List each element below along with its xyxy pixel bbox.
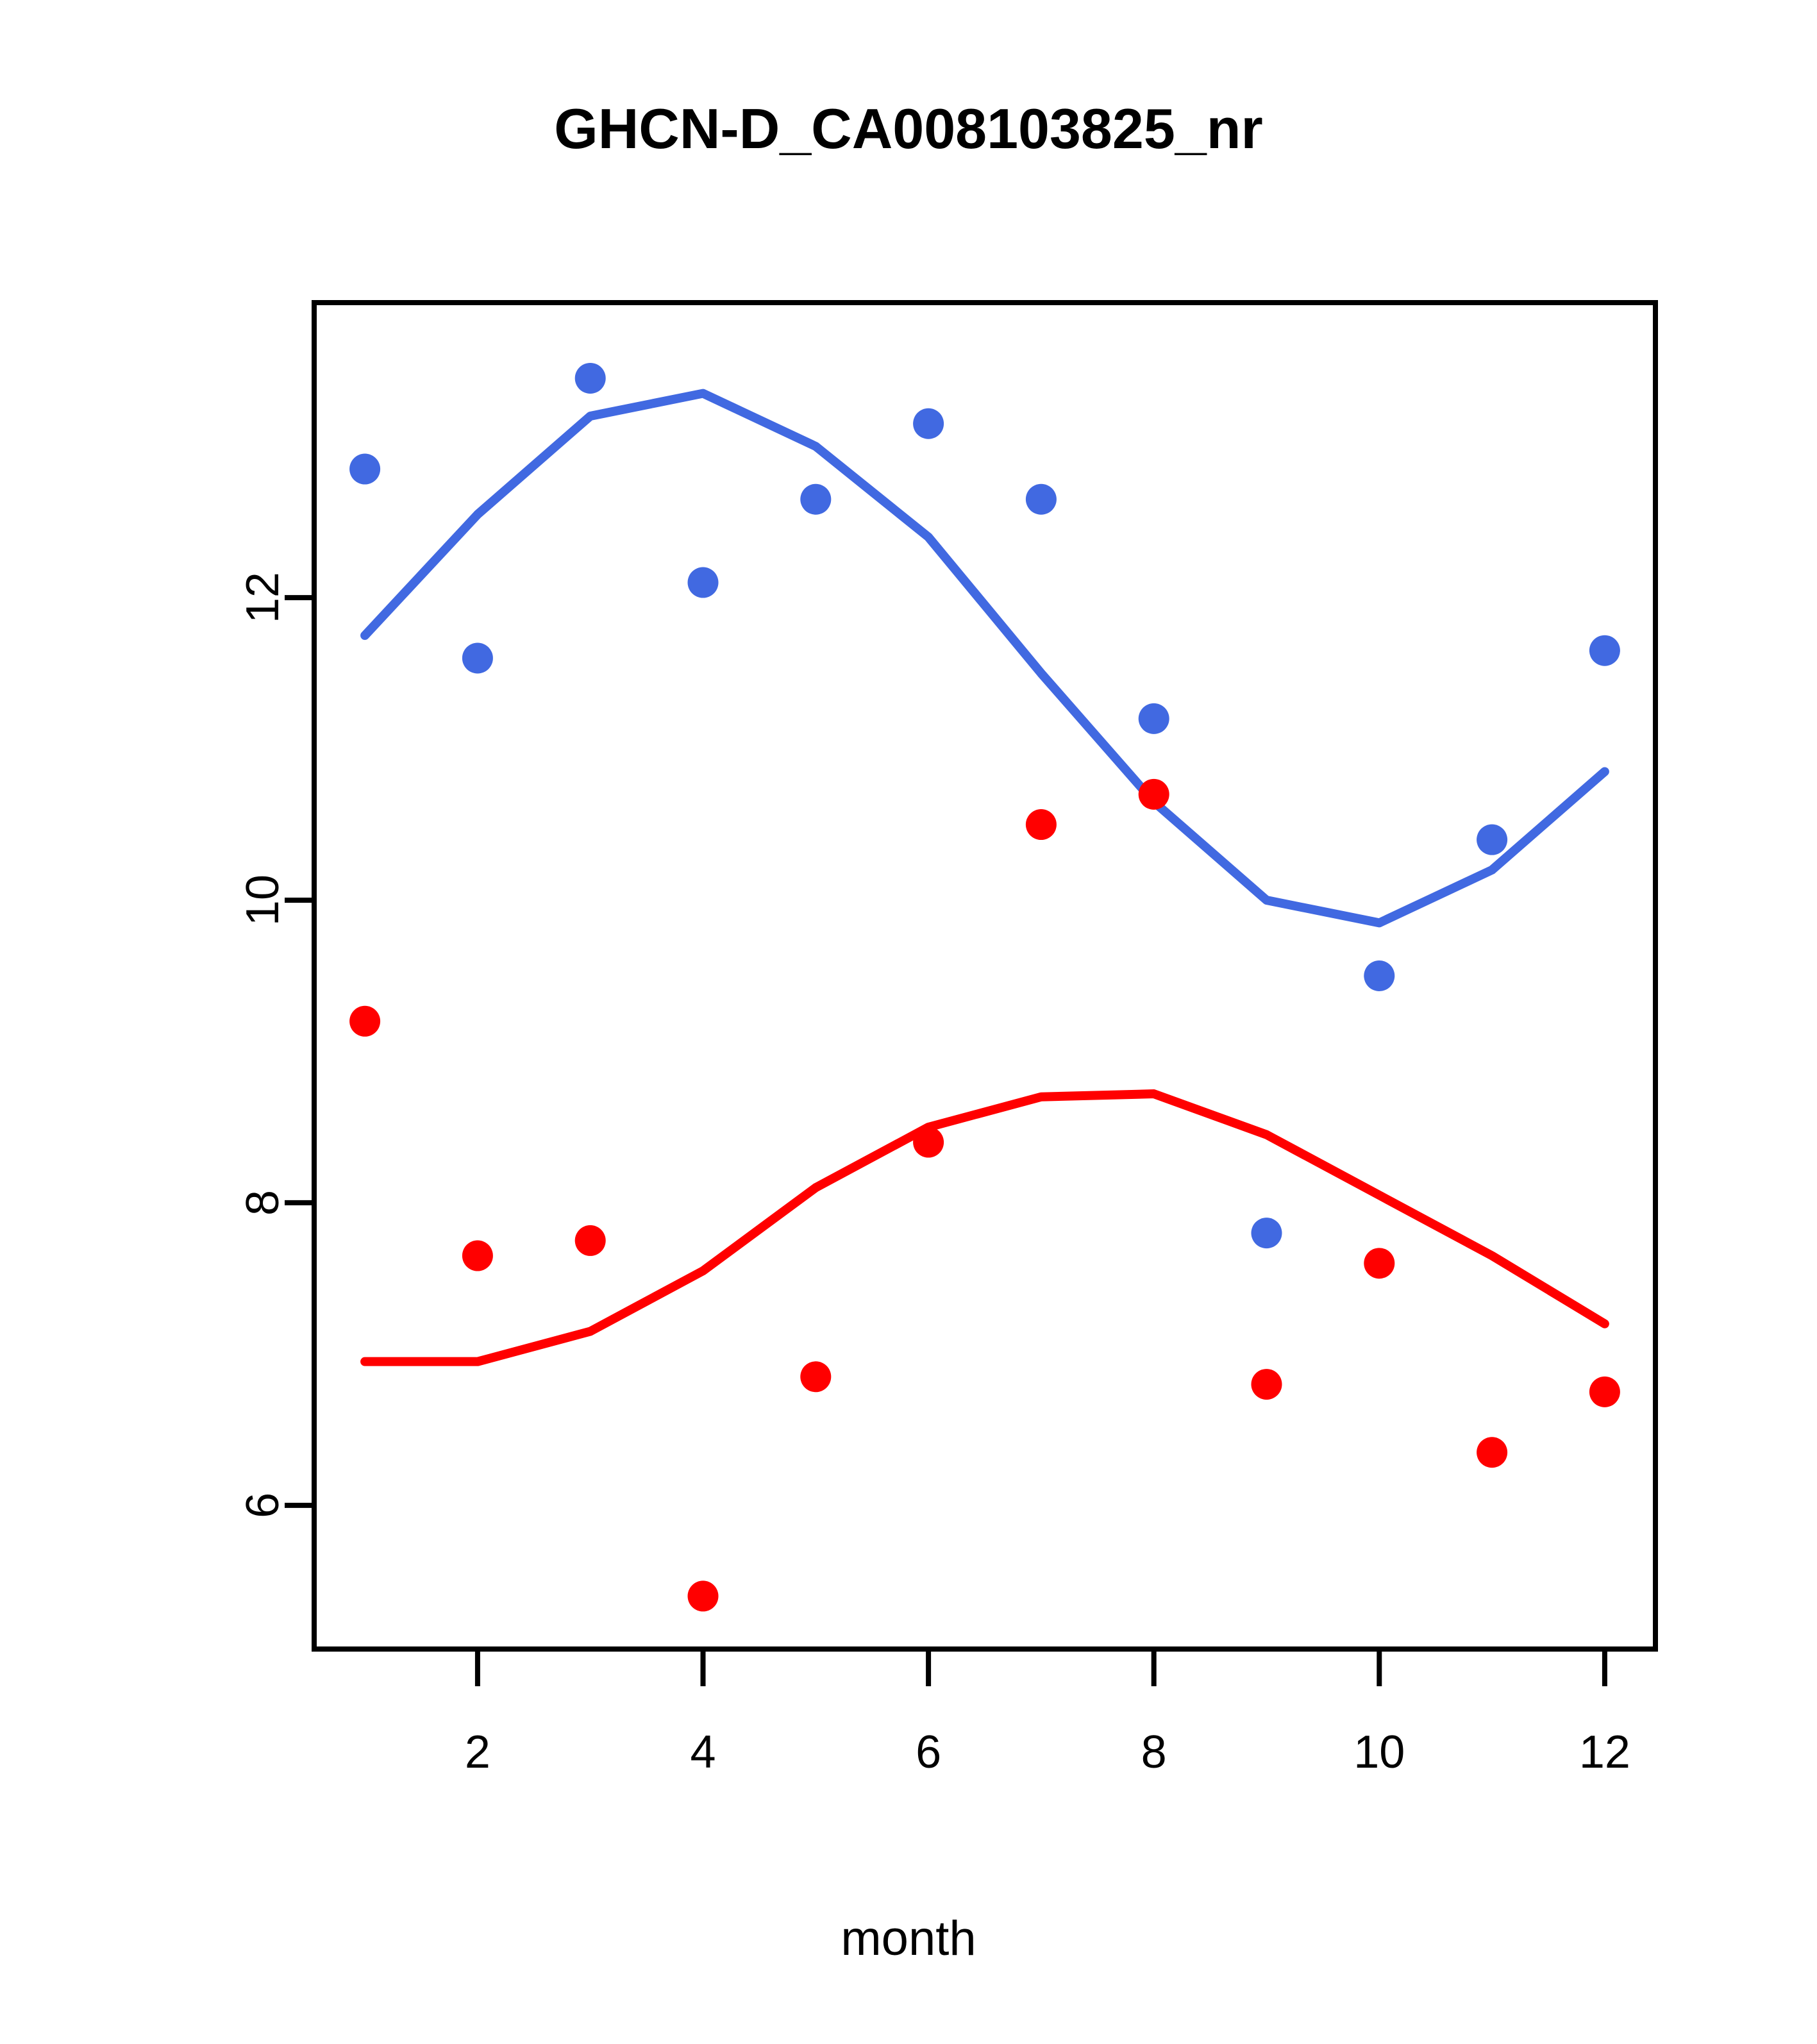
data-point-red-points [462, 1241, 493, 1271]
x-tick-label: 6 [916, 1727, 941, 1778]
data-point-red-points [800, 1361, 831, 1392]
x-tick-label: 2 [465, 1727, 490, 1778]
data-point-blue-points [1139, 703, 1169, 734]
x-tick-label: 12 [1579, 1727, 1630, 1778]
data-point-red-points [1589, 1377, 1620, 1407]
y-tick-label: 6 [237, 1493, 289, 1518]
chart-page: GHCN-D_CA008103825_nr 68101224681012 mon… [0, 0, 1817, 2044]
scatter-plot: 68101224681012 [0, 0, 1817, 2044]
data-point-red-points [1139, 779, 1169, 810]
y-tick-label: 8 [237, 1190, 289, 1216]
data-point-red-points [1477, 1437, 1507, 1468]
data-point-red-points [575, 1225, 606, 1256]
series-line-red-line [365, 1094, 1605, 1362]
data-point-blue-points [462, 642, 493, 673]
y-tick-label: 12 [237, 572, 289, 623]
data-point-blue-points [1364, 960, 1394, 991]
data-point-blue-points [913, 408, 944, 439]
data-point-blue-points [1477, 825, 1507, 855]
data-point-red-points [688, 1580, 719, 1611]
data-point-blue-points [575, 363, 606, 394]
series-line-blue-line [365, 394, 1605, 923]
data-point-red-points [1251, 1369, 1282, 1400]
x-tick-label: 4 [690, 1727, 716, 1778]
data-point-blue-points [1589, 635, 1620, 666]
plot-border [314, 303, 1655, 1649]
x-tick-label: 8 [1141, 1727, 1167, 1778]
data-point-blue-points [1026, 484, 1057, 515]
data-point-red-points [1364, 1248, 1394, 1278]
data-point-red-points [1026, 809, 1057, 840]
data-point-blue-points [688, 567, 719, 598]
data-point-blue-points [349, 454, 380, 485]
y-tick-label: 10 [237, 875, 289, 926]
data-point-blue-points [800, 484, 831, 515]
data-point-blue-points [1251, 1218, 1282, 1248]
data-point-red-points [349, 1006, 380, 1037]
x-tick-label: 10 [1353, 1727, 1405, 1778]
x-axis-label: month [0, 1911, 1817, 1966]
